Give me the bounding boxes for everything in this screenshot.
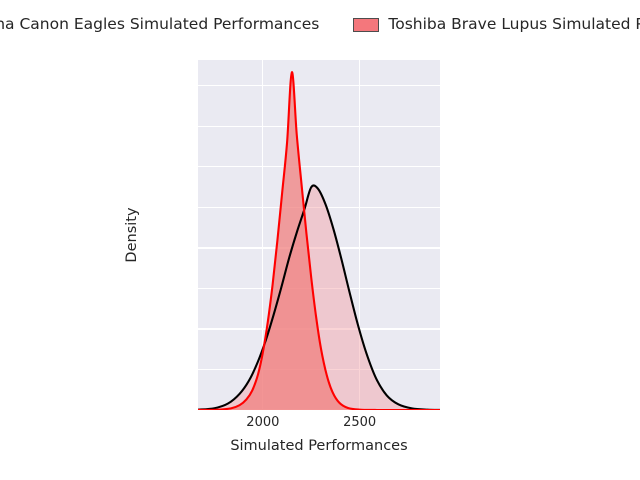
x-tick-label: 2000 — [246, 415, 279, 430]
x-tick-label: 2500 — [343, 415, 376, 430]
plot-area — [198, 60, 440, 410]
legend-entry-toshiba-brave-lupus[interactable]: Toshiba Brave Lupus Simulated P — [353, 17, 640, 33]
legend-label-canon-eagles: na Canon Eagles Simulated Performances — [0, 17, 319, 33]
density-plot-figure: na Canon Eagles Simulated Performances T… — [0, 0, 640, 480]
legend-swatch-toshiba-brave-lupus — [353, 18, 379, 32]
legend-label-toshiba-brave-lupus: Toshiba Brave Lupus Simulated P — [388, 17, 640, 33]
x-axis-label: Simulated Performances — [198, 438, 440, 454]
chart-legend: na Canon Eagles Simulated Performances T… — [0, 8, 640, 42]
density-curves — [198, 60, 440, 410]
y-axis-label: Density — [122, 60, 142, 410]
legend-entry-canon-eagles[interactable]: na Canon Eagles Simulated Performances — [0, 17, 319, 33]
